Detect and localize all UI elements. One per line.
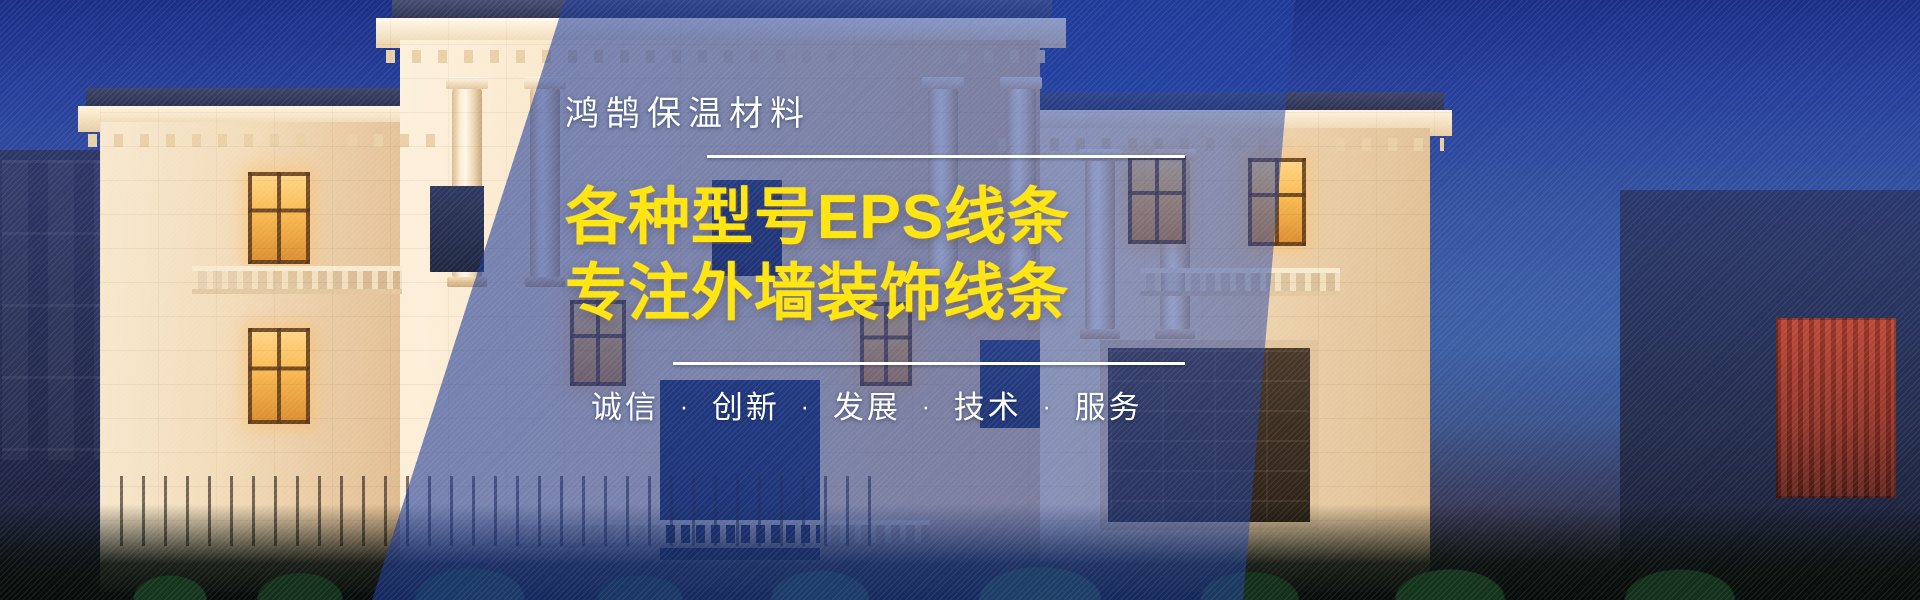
tagline-item-5: 服务 <box>1075 390 1143 425</box>
headline: 各种型号EPS线条 专注外墙装饰线条 <box>565 180 1265 331</box>
tagline-item-2: 创新 <box>712 390 780 425</box>
tagline-item-1: 诚信 <box>591 390 659 425</box>
tagline-separator: · <box>1033 391 1063 421</box>
banner-text-block: 鸿鹄保温材料 各种型号EPS线条 专注外墙装饰线条 诚信 · 创新 · 发展 ·… <box>565 96 1265 427</box>
divider-top <box>707 155 1185 158</box>
brand-name: 鸿鹄保温材料 <box>565 96 1265 133</box>
tagline-item-4: 技术 <box>954 390 1022 425</box>
divider-bottom <box>673 362 1185 365</box>
tagline-item-3: 发展 <box>833 390 901 425</box>
headline-line-1: 各种型号EPS线条 <box>565 180 1265 256</box>
promo-banner: 鸿鹄保温材料 各种型号EPS线条 专注外墙装饰线条 诚信 · 创新 · 发展 ·… <box>0 0 1920 600</box>
tagline-separator: · <box>671 391 701 421</box>
red-container <box>1776 318 1896 498</box>
tagline-separator: · <box>912 391 942 421</box>
tagline-separator: · <box>792 391 822 421</box>
tagline: 诚信 · 创新 · 发展 · 技术 · 服务 <box>591 382 1265 427</box>
foreground-hedge <box>0 504 1920 600</box>
headline-line-2: 专注外墙装饰线条 <box>565 256 1265 332</box>
